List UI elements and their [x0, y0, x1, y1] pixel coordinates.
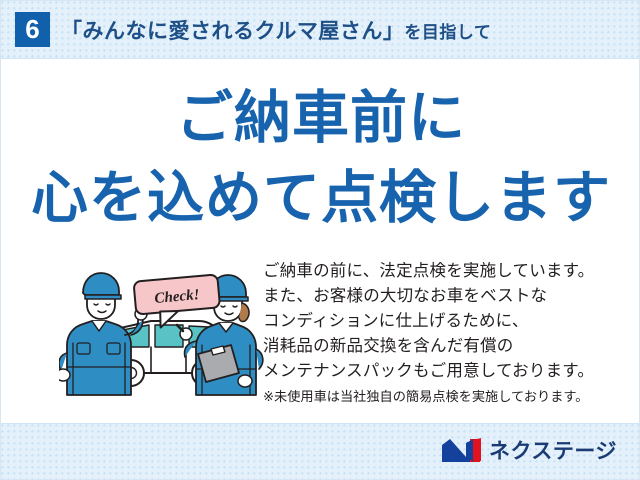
header-title: 「みんなに愛されるクルマ屋さん」を目指して [61, 15, 491, 45]
body-note: ※未使用車は当社独自の簡易点検を実施しております。 [263, 386, 631, 408]
header-title-main: 「みんなに愛されるクルマ屋さん」 [61, 20, 404, 43]
advertisement-page: 6 「みんなに愛されるクルマ屋さん」を目指して ご納車前に 心を込めて点検します… [0, 0, 640, 480]
nexstage-logo-icon [440, 437, 482, 464]
header-title-suffix: を目指して [404, 23, 491, 42]
body-line: メンテナンスパックもご用意しております。 [263, 359, 631, 384]
body-copy: ご納車の前に、法定点検を実施しています。 また、お客様の大切なお車をベストな コ… [263, 259, 631, 408]
body-line: ご納車の前に、法定点検を実施しています。 [263, 259, 631, 284]
heading-line-1: ご納車前に [1, 87, 640, 149]
section-number-badge: 6 [15, 12, 50, 47]
body-line: コンディションに仕上げるために、 [263, 309, 631, 334]
body-line: また、お客様の大切なお車をベストな [263, 284, 631, 309]
mechanics-illustration: Check! [59, 269, 264, 401]
heading-line-2: 心を込めて点検します [1, 167, 640, 229]
nexstage-logo-text: ネクステージ [489, 435, 617, 465]
body-line: 消耗品の新品交換を含んだ有償の [263, 334, 631, 359]
nexstage-logo: ネクステージ [440, 435, 617, 465]
